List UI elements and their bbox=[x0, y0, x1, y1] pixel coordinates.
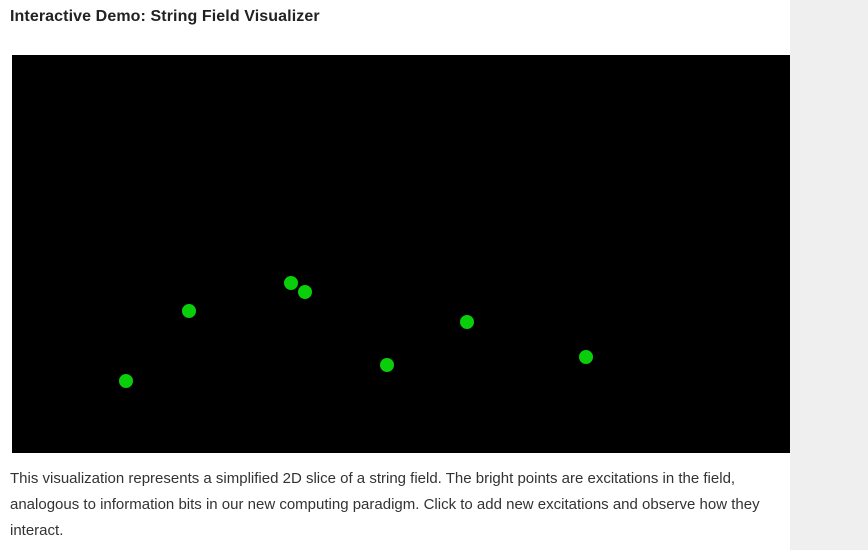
field-excitation-point[interactable] bbox=[182, 304, 196, 318]
page-gutter bbox=[790, 0, 868, 550]
field-excitation-point[interactable] bbox=[298, 285, 312, 299]
field-excitation-point[interactable] bbox=[460, 315, 474, 329]
page-title: Interactive Demo: String Field Visualize… bbox=[10, 8, 320, 26]
field-excitation-point[interactable] bbox=[284, 276, 298, 290]
string-field-canvas[interactable] bbox=[12, 55, 810, 453]
content-column: Interactive Demo: String Field Visualize… bbox=[0, 0, 790, 550]
field-excitation-point[interactable] bbox=[579, 350, 593, 364]
field-excitation-point[interactable] bbox=[380, 358, 394, 372]
demo-caption: This visualization represents a simplifi… bbox=[10, 466, 772, 544]
field-excitation-point[interactable] bbox=[119, 374, 133, 388]
